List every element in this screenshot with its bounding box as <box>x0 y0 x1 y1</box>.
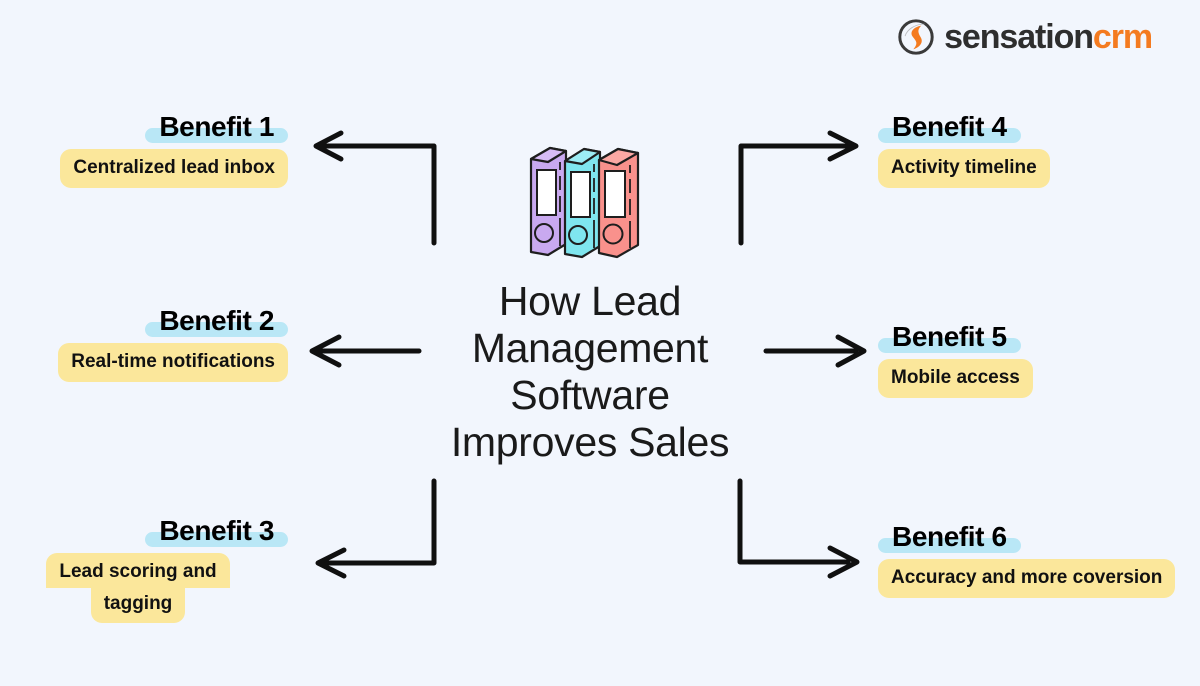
arrow-to-benefit-3 <box>318 481 434 576</box>
benefit-block-2: Benefit 2 Real-time notifications <box>0 306 288 382</box>
benefit-6-description-line-1: Accuracy and more coversion <box>878 559 1175 598</box>
brand-name-crm: crm <box>1093 18 1152 56</box>
title-line-4: Improves Sales <box>400 419 780 466</box>
benefit-5-heading: Benefit 5 <box>878 322 1021 351</box>
benefit-4-description: Activity timeline <box>878 149 1178 188</box>
benefit-block-1: Benefit 1 Centralized lead inbox <box>0 112 288 188</box>
arrow-to-benefit-4 <box>741 133 856 243</box>
title-line-2: Management <box>400 325 780 372</box>
arrow-to-benefit-5 <box>766 337 864 365</box>
brand-name-sensation: sensation <box>944 18 1093 56</box>
benefit-2-description-line-1: Real-time notifications <box>58 343 288 382</box>
benefit-block-4: Benefit 4 Activity timeline <box>878 112 1178 188</box>
title-line-3: Software <box>400 372 780 419</box>
benefit-block-6: Benefit 6 Accuracy and more coversion <box>878 522 1178 598</box>
benefit-1-description-line-1: Centralized lead inbox <box>60 149 288 188</box>
benefit-3-heading: Benefit 3 <box>145 516 288 545</box>
title-line-1: How Lead <box>400 278 780 325</box>
benefit-6-heading: Benefit 6 <box>878 522 1021 551</box>
brand-wordmark: sensationcrm <box>944 20 1152 54</box>
three-ring-binders-icon <box>498 128 670 268</box>
benefit-1-heading: Benefit 1 <box>145 112 288 141</box>
benefit-5-description-line-1: Mobile access <box>878 359 1033 398</box>
benefit-block-3: Benefit 3 Lead scoring and tagging <box>0 516 288 623</box>
benefit-3-description-line-2: tagging <box>91 588 186 624</box>
brand-logo: sensationcrm <box>895 16 1152 58</box>
benefit-3-description: Lead scoring and tagging <box>0 553 288 623</box>
benefit-2-description: Real-time notifications <box>0 343 288 382</box>
benefit-6-description: Accuracy and more coversion <box>878 559 1178 598</box>
benefit-3-description-line-1: Lead scoring and <box>46 553 229 588</box>
infographic-canvas: sensationcrm How Lead Management Softwar… <box>0 0 1200 686</box>
benefit-4-heading: Benefit 4 <box>878 112 1021 141</box>
benefit-2-heading: Benefit 2 <box>145 306 288 335</box>
sensation-circle-swoosh-icon <box>895 16 937 58</box>
benefit-1-heading-text: Benefit 1 <box>159 111 274 142</box>
benefit-4-description-line-1: Activity timeline <box>878 149 1050 188</box>
benefit-2-heading-text: Benefit 2 <box>159 305 274 336</box>
benefit-5-heading-text: Benefit 5 <box>892 321 1007 352</box>
benefit-block-5: Benefit 5 Mobile access <box>878 322 1178 398</box>
benefit-4-heading-text: Benefit 4 <box>892 111 1007 142</box>
benefit-6-heading-text: Benefit 6 <box>892 521 1007 552</box>
page-title: How Lead Management Software Improves Sa… <box>400 278 780 467</box>
benefit-5-description: Mobile access <box>878 359 1178 398</box>
benefit-3-heading-text: Benefit 3 <box>159 515 274 546</box>
benefit-1-description: Centralized lead inbox <box>0 149 288 188</box>
arrow-to-benefit-1 <box>316 133 434 243</box>
arrow-to-benefit-6 <box>740 481 857 576</box>
